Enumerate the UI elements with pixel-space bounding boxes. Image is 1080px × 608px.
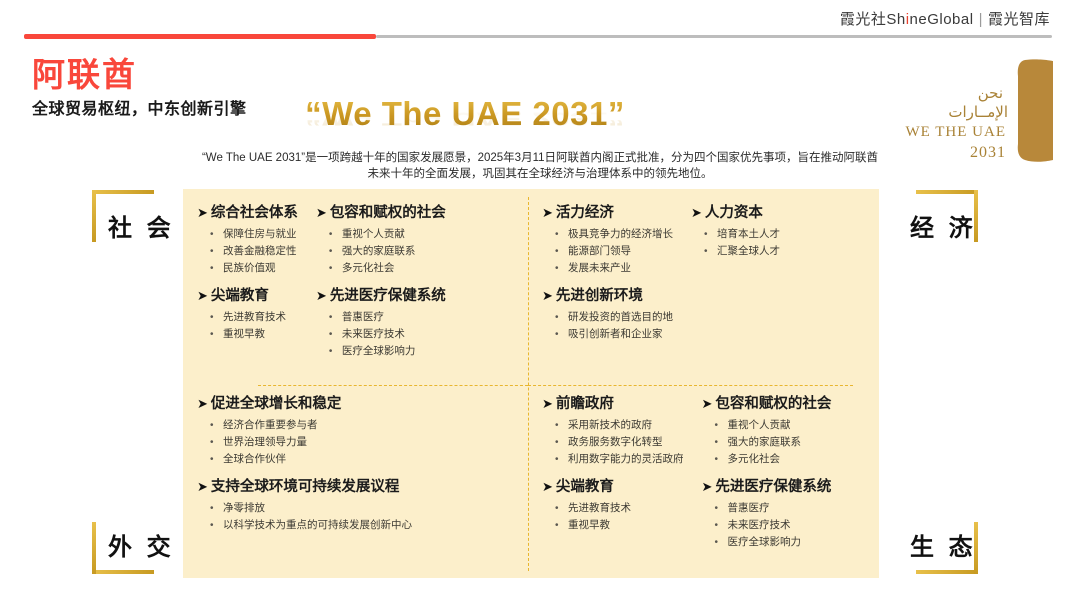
pillar-group-title: ➤促进全球增长和稳定: [197, 394, 412, 414]
list-item: 民族价值观: [210, 260, 298, 277]
pillars-panel: ➤综合社会体系保障住房与就业改善金融稳定性民族价值观➤尖端教育先进教育技术重视早…: [183, 189, 879, 578]
quadrant-ecology: ➤前瞻政府采用新技术的政府政务服务数字化转型利用数字能力的灵活政府➤尖端教育先进…: [542, 394, 872, 572]
pillar-group-title: ➤人力资本: [691, 203, 780, 223]
pillar-bullet-list: 培育本土人才汇聚全球人才: [691, 226, 780, 260]
arrow-right-icon: ➤: [197, 203, 208, 223]
arrow-right-icon: ➤: [197, 394, 208, 414]
list-item: 世界治理领导力量: [210, 434, 412, 451]
emblem-arabic-1: نحن: [978, 84, 1003, 102]
pillar-bullet-list: 重视个人贡献强大的家庭联系多元化社会: [316, 226, 446, 277]
pillar-group: ➤先进创新环境研发投资的首选目的地吸引创新者和企业家: [542, 286, 673, 343]
pillar-bullet-list: 重视个人贡献强大的家庭联系多元化社会: [702, 417, 832, 468]
pillar-group-title: ➤活力经济: [542, 203, 673, 223]
pillar-group: ➤促进全球增长和稳定经济合作重要参与者世界治理领导力量全球合作伙伴: [197, 394, 412, 468]
pillar-column: ➤综合社会体系保障住房与就业改善金融稳定性民族价值观➤尖端教育先进教育技术重视早…: [197, 203, 298, 360]
list-item: 利用数字能力的灵活政府: [555, 451, 684, 468]
pillar-group: ➤尖端教育先进教育技术重视早教: [197, 286, 298, 343]
header-divider-gray: [376, 35, 1052, 38]
corner-label-economy: 经 济: [910, 208, 977, 243]
list-item: 极具竞争力的经济增长: [555, 226, 673, 243]
we-the-uae-emblem-icon: نحن الإمــارات WE THE UAE 2031: [903, 52, 1068, 170]
pillar-group-title: ➤综合社会体系: [197, 203, 298, 223]
pillar-group-title: ➤先进医疗保健系统: [316, 286, 446, 306]
list-item: 多元化社会: [715, 451, 832, 468]
list-item: 汇聚全球人才: [704, 243, 780, 260]
pillar-group: ➤先进医疗保健系统普惠医疗未来医疗技术医疗全球影响力: [316, 286, 446, 360]
pillar-group-title: ➤前瞻政府: [542, 394, 684, 414]
quadrant-diplomacy: ➤促进全球增长和稳定经济合作重要参与者世界治理领导力量全球合作伙伴➤支持全球环境…: [197, 394, 528, 572]
quadrant-columns: ➤活力经济极具竞争力的经济增长能源部门领导发展未来产业➤先进创新环境研发投资的首…: [542, 203, 872, 343]
list-item: 培育本土人才: [704, 226, 780, 243]
arrow-right-icon: ➤: [316, 286, 327, 306]
pillar-column: ➤促进全球增长和稳定经济合作重要参与者世界治理领导力量全球合作伙伴➤支持全球环境…: [197, 394, 412, 534]
list-item: 强大的家庭联系: [715, 434, 832, 451]
header-divider-red: [24, 34, 376, 39]
list-item: 医疗全球影响力: [329, 343, 446, 360]
pillar-group: ➤尖端教育先进教育技术重视早教: [542, 477, 684, 534]
emblem-latin: WE THE UAE: [905, 124, 1006, 140]
page-title: 阿联酋: [32, 48, 137, 96]
quadrant-columns: ➤促进全球增长和稳定经济合作重要参与者世界治理领导力量全球合作伙伴➤支持全球环境…: [197, 394, 528, 534]
pillar-group: ➤支持全球环境可持续发展议程净零排放以科学技术为重点的可持续发展创新中心: [197, 477, 412, 534]
arrow-right-icon: ➤: [542, 286, 553, 306]
pillar-group: ➤包容和赋权的社会重视个人贡献强大的家庭联系多元化社会: [316, 203, 446, 277]
brand-separator: |: [979, 11, 983, 28]
list-item: 多元化社会: [329, 260, 446, 277]
quadrant-economy: ➤活力经济极具竞争力的经济增长能源部门领导发展未来产业➤先进创新环境研发投资的首…: [542, 203, 872, 385]
list-item: 普惠医疗: [715, 500, 832, 517]
arrow-right-icon: ➤: [542, 203, 553, 223]
list-item: 能源部门领导: [555, 243, 673, 260]
list-item: 医疗全球影响力: [715, 534, 832, 551]
arrow-right-icon: ➤: [197, 286, 208, 306]
list-item: 重视个人贡献: [329, 226, 446, 243]
panel-vertical-divider: [528, 197, 529, 571]
pillar-group: ➤先进医疗保健系统普惠医疗未来医疗技术医疗全球影响力: [702, 477, 832, 551]
list-item: 发展未来产业: [555, 260, 673, 277]
corner-label-diplomacy: 外 交: [108, 527, 175, 562]
pillar-bullet-list: 先进教育技术重视早教: [542, 500, 684, 534]
brand-secondary: 霞光智库: [988, 11, 1050, 28]
quadrant-society: ➤综合社会体系保障住房与就业改善金融稳定性民族价值观➤尖端教育先进教育技术重视早…: [197, 203, 528, 385]
list-item: 保障住房与就业: [210, 226, 298, 243]
pillar-bullet-list: 普惠医疗未来医疗技术医疗全球影响力: [316, 309, 446, 360]
pillar-group-title: ➤尖端教育: [197, 286, 298, 306]
emblem-year: 2031: [970, 144, 1006, 161]
list-item: 强大的家庭联系: [329, 243, 446, 260]
arrow-right-icon: ➤: [542, 394, 553, 414]
pillar-group-title: ➤包容和赋权的社会: [316, 203, 446, 223]
pillar-group: ➤人力资本培育本土人才汇聚全球人才: [691, 203, 780, 260]
pillar-bullet-list: 经济合作重要参与者世界治理领导力量全球合作伙伴: [197, 417, 412, 468]
panel-horizontal-divider-right: [528, 385, 853, 386]
list-item: 重视早教: [210, 326, 298, 343]
brand-logo: 霞光社ShineGlobal|霞光智库: [840, 8, 1050, 29]
pillar-column: ➤人力资本培育本土人才汇聚全球人才: [691, 203, 780, 343]
pillar-group-title: ➤包容和赋权的社会: [702, 394, 832, 414]
list-item: 净零排放: [210, 500, 412, 517]
corner-label-society: 社 会: [108, 208, 175, 243]
list-item: 改善金融稳定性: [210, 243, 298, 260]
arrow-right-icon: ➤: [691, 203, 702, 223]
panel-horizontal-divider-left: [258, 385, 528, 386]
list-item: 重视个人贡献: [715, 417, 832, 434]
pillar-column: ➤包容和赋权的社会重视个人贡献强大的家庭联系多元化社会➤先进医疗保健系统普惠医疗…: [316, 203, 446, 360]
list-item: 吸引创新者和企业家: [555, 326, 673, 343]
emblem-arabic-2: الإمــارات: [948, 103, 1008, 121]
pillar-column: ➤前瞻政府采用新技术的政府政务服务数字化转型利用数字能力的灵活政府➤尖端教育先进…: [542, 394, 684, 551]
pillar-bullet-list: 极具竞争力的经济增长能源部门领导发展未来产业: [542, 226, 673, 277]
pillar-bullet-list: 先进教育技术重视早教: [197, 309, 298, 343]
list-item: 全球合作伙伴: [210, 451, 412, 468]
pillar-group-title: ➤先进医疗保健系统: [702, 477, 832, 497]
pillar-group: ➤综合社会体系保障住房与就业改善金融稳定性民族价值观: [197, 203, 298, 277]
list-item: 采用新技术的政府: [555, 417, 684, 434]
slide-root: 霞光社ShineGlobal|霞光智库 阿联酋 全球贸易枢纽，中东创新引擎 “W…: [0, 0, 1080, 608]
arrow-right-icon: ➤: [702, 477, 713, 497]
arrow-right-icon: ➤: [542, 477, 553, 497]
pillar-bullet-list: 研发投资的首选目的地吸引创新者和企业家: [542, 309, 673, 343]
list-item: 研发投资的首选目的地: [555, 309, 673, 326]
pillar-group-title: ➤先进创新环境: [542, 286, 673, 306]
pillar-group: ➤前瞻政府采用新技术的政府政务服务数字化转型利用数字能力的灵活政府: [542, 394, 684, 468]
pillar-bullet-list: 净零排放以科学技术为重点的可持续发展创新中心: [197, 500, 412, 534]
pillar-group: ➤包容和赋权的社会重视个人贡献强大的家庭联系多元化社会: [702, 394, 832, 468]
arrow-right-icon: ➤: [316, 203, 327, 223]
pillar-bullet-list: 普惠医疗未来医疗技术医疗全球影响力: [702, 500, 832, 551]
arrow-right-icon: ➤: [702, 394, 713, 414]
list-item: 未来医疗技术: [715, 517, 832, 534]
pillar-bullet-list: 保障住房与就业改善金融稳定性民族价值观: [197, 226, 298, 277]
arrow-right-icon: ➤: [197, 477, 208, 497]
list-item: 重视早教: [555, 517, 684, 534]
list-item: 未来医疗技术: [329, 326, 446, 343]
pillar-column: ➤活力经济极具竞争力的经济增长能源部门领导发展未来产业➤先进创新环境研发投资的首…: [542, 203, 673, 343]
pillar-group-title: ➤支持全球环境可持续发展议程: [197, 477, 412, 497]
pillar-group: ➤活力经济极具竞争力的经济增长能源部门领导发展未来产业: [542, 203, 673, 277]
list-item: 以科学技术为重点的可持续发展创新中心: [210, 517, 412, 534]
quadrant-columns: ➤前瞻政府采用新技术的政府政务服务数字化转型利用数字能力的灵活政府➤尖端教育先进…: [542, 394, 872, 551]
list-item: 普惠医疗: [329, 309, 446, 326]
pillar-column: ➤包容和赋权的社会重视个人贡献强大的家庭联系多元化社会➤先进医疗保健系统普惠医疗…: [702, 394, 832, 551]
list-item: 经济合作重要参与者: [210, 417, 412, 434]
corner-label-ecology: 生 态: [910, 527, 977, 562]
header-divider: [24, 34, 1052, 39]
list-item: 先进教育技术: [210, 309, 298, 326]
list-item: 先进教育技术: [555, 500, 684, 517]
pillar-group-title: ➤尖端教育: [542, 477, 684, 497]
brand-suffix: neGlobal: [910, 11, 974, 28]
pillar-bullet-list: 采用新技术的政府政务服务数字化转型利用数字能力的灵活政府: [542, 417, 684, 468]
list-item: 政务服务数字化转型: [555, 434, 684, 451]
brand-prefix: 霞光社Sh: [840, 11, 906, 28]
vision-description: “We The UAE 2031”是一项跨越十年的国家发展愿景，2025年3月1…: [200, 150, 880, 182]
quadrant-columns: ➤综合社会体系保障住房与就业改善金融稳定性民族价值观➤尖端教育先进教育技术重视早…: [197, 203, 528, 360]
